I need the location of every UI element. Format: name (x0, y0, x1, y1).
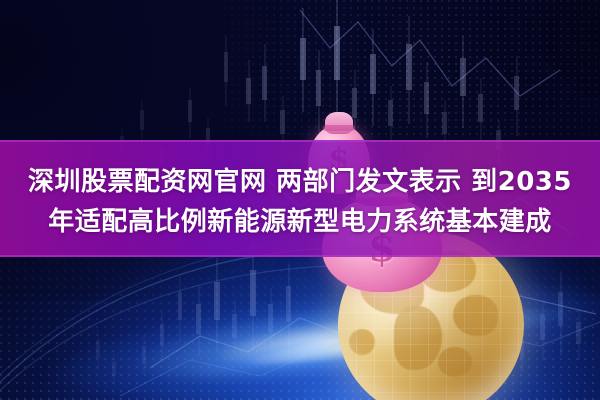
banner-bottom-edge (0, 255, 600, 257)
headline-line-2: 年适配高比例新能源新型电力系统基本建成 (0, 203, 600, 241)
money-bag-tie (323, 125, 355, 131)
news-banner-image: $ $ 深圳股票配资网官网 两部门发文表示 到2035 年适配高比例新能源新型电… (0, 0, 600, 400)
banner-top-edge (0, 140, 600, 142)
headline-line-1: 深圳股票配资网官网 两部门发文表示 到2035 (0, 163, 600, 201)
